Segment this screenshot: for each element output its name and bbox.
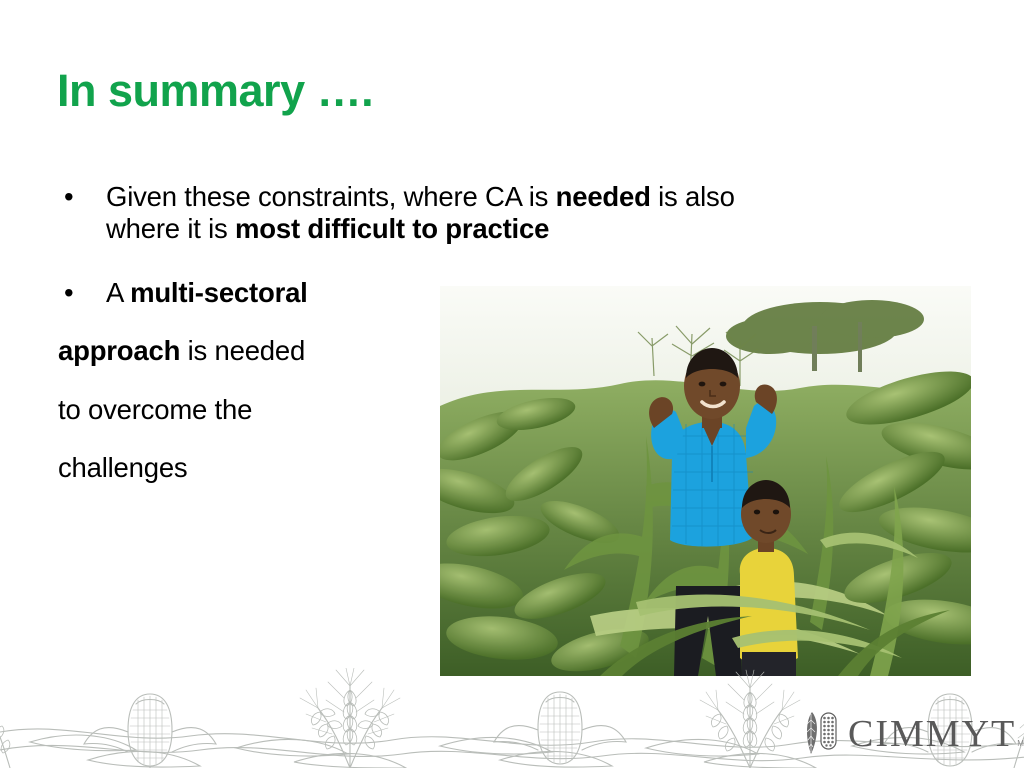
page-title: In summary …. — [57, 66, 373, 116]
bullet-marker-icon: • — [64, 181, 73, 213]
bullet-text-emphasis: approach — [58, 335, 180, 366]
field-photograph-image — [440, 286, 971, 676]
bullet-text-segment: is also — [651, 181, 735, 212]
bullet-marker-icon: • — [64, 277, 73, 309]
bullet-text-emphasis: needed — [556, 181, 651, 212]
bullet-continuation-line: to overcome the — [58, 394, 438, 426]
bullet-text-segment: is needed — [180, 335, 305, 366]
bullet-continuation-line: where it is most difficult to practice — [58, 213, 973, 245]
bullet-text-segment: A — [106, 277, 130, 308]
bullet-list-item-1: • Given these constraints, where CA is n… — [58, 181, 973, 246]
presentation-slide: In summary …. • Given these constraints,… — [0, 0, 1024, 768]
maize-cob-icon — [802, 710, 844, 754]
bullet-line: • Given these constraints, where CA is n… — [58, 181, 973, 213]
bullet-text-segment: where it is — [106, 213, 235, 244]
bullet-text-segment: challenges — [58, 452, 188, 483]
cimmyt-wordmark-text: CIMMYT — [848, 713, 1016, 755]
bullet-text-emphasis: most difficult to practice — [235, 213, 549, 244]
cimmyt-logo: CIMMYTMR — [802, 706, 1024, 754]
bullet-text-segment: to overcome the — [58, 394, 252, 425]
bullet-text-emphasis: multi-sectoral — [130, 277, 308, 308]
person-child — [740, 480, 798, 676]
bullet-continuation-line: approach is needed — [58, 335, 438, 367]
cimmyt-wordmark: CIMMYTMR — [848, 715, 1024, 753]
bullet-line: • A multi-sectoral — [58, 277, 438, 309]
bullet-continuation-line: challenges — [58, 452, 438, 484]
bullet-list-item-2: • A multi-sectoral approach is needed to… — [58, 277, 438, 485]
trademark-mark: MR — [1017, 739, 1024, 748]
field-photograph — [440, 286, 971, 676]
bullet-text-segment: Given these constraints, where CA is — [106, 181, 556, 212]
